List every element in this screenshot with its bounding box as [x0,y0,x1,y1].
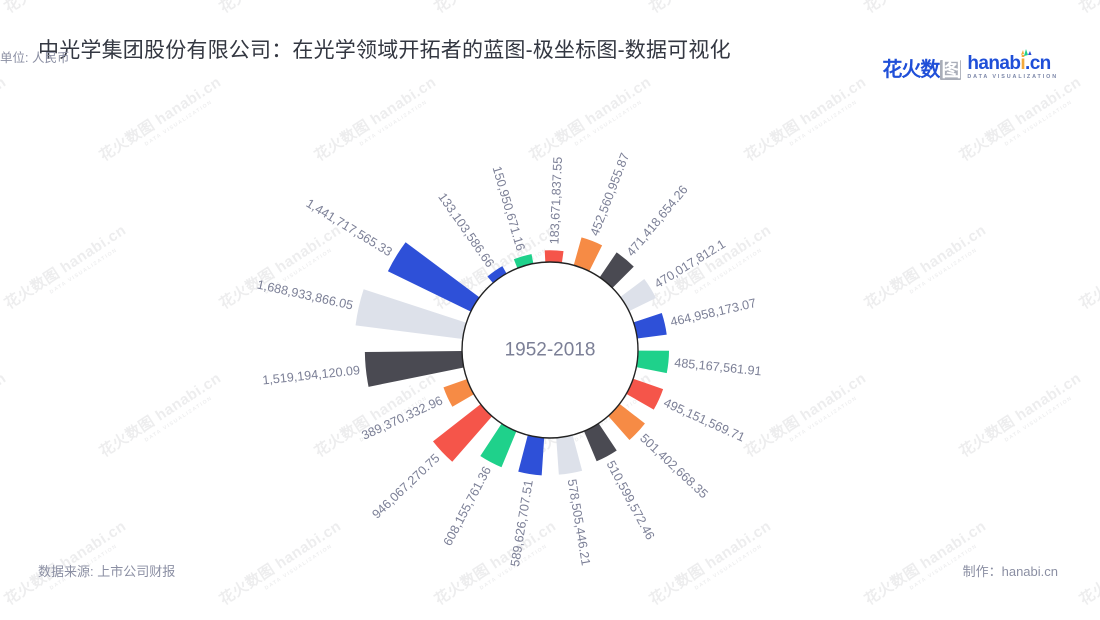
polar-bar[interactable] [556,435,582,475]
chart-header: 中光学集团股份有限公司：在光学领域开拓者的蓝图-极坐标图-数据可视化 [38,36,838,66]
logo-en-wordmark: hanabi.cn [967,54,1058,73]
logo-cn-text: 花火数 [882,60,939,80]
credit-label: 制作：hanabi.cn [963,561,1058,580]
polar-bar-value-label: 578,505,446.21 [565,478,593,567]
polar-bar-value-label: 1,519,194,120.09 [262,363,361,387]
polar-bar-value-label: 183,671,837.55 [547,157,565,245]
data-source-label: 数据来源: 上市公司财报 [38,561,175,580]
polar-bar-value-label: 495,151,569.71 [661,396,746,445]
polar-bar[interactable] [388,242,480,311]
polar-bar-value-label: 501,402,668.35 [637,431,710,501]
polar-bar[interactable] [545,250,564,263]
polar-bar-chart: 133,103,586.66150,950,671.16183,671,837.… [0,0,1100,620]
polar-bar-value-label: 452,560,955.87 [588,151,633,238]
polar-bar[interactable] [480,424,516,468]
logo-latin-block: hanabi.cn DATA VISUALIZATION [967,54,1058,80]
polar-bar[interactable] [365,351,464,387]
polar-bar-value-label: 1,688,933,866.05 [256,278,355,313]
polar-bar-value-label: 1,441,717,565.33 [304,196,395,259]
logo-tagline: DATA VISUALIZATION [967,75,1058,80]
polar-bar-value-label: 589,626,707.51 [508,479,536,568]
polar-bar-value-label: 471,418,654.26 [624,183,691,259]
logo-cn-boxed-char: 图 [940,60,961,80]
hanabi-logo: 花火数图 hanabi.cn DATA VISUALIZATION [882,54,1058,80]
polar-bar[interactable] [634,313,667,339]
polar-bar-value-label: 464,958,173.07 [669,296,757,329]
polar-bar-value-label: 389,370,332.96 [360,393,445,442]
logo-en-text: hanab [967,53,1020,74]
polar-bar-value-label: 133,103,586.66 [435,190,497,270]
logo-chinese-wordmark: 花火数图 [882,60,961,80]
sparkle-icon [1018,46,1034,58]
polar-bar-value-label: 150,950,671.16 [490,165,528,253]
chart-unit-subtitle: 单位: 人民币 [0,50,92,67]
polar-bar-value-label: 510,599,572.46 [604,458,658,542]
polar-bar[interactable] [636,351,669,374]
page-title: 中光学集团股份有限公司：在光学领域开拓者的蓝图-极坐标图-数据可视化 [38,36,838,66]
center-range-label: 1952-2018 [505,340,596,361]
polar-bar-value-label: 608,155,761.36 [441,464,494,548]
polar-bar-value-label: 485,167,561.91 [674,356,763,379]
polar-bar-value-label: 470,017,812.1 [652,237,728,291]
polar-bar[interactable] [518,435,544,475]
polar-bar-value-label: 946,067,270.75 [369,451,442,521]
